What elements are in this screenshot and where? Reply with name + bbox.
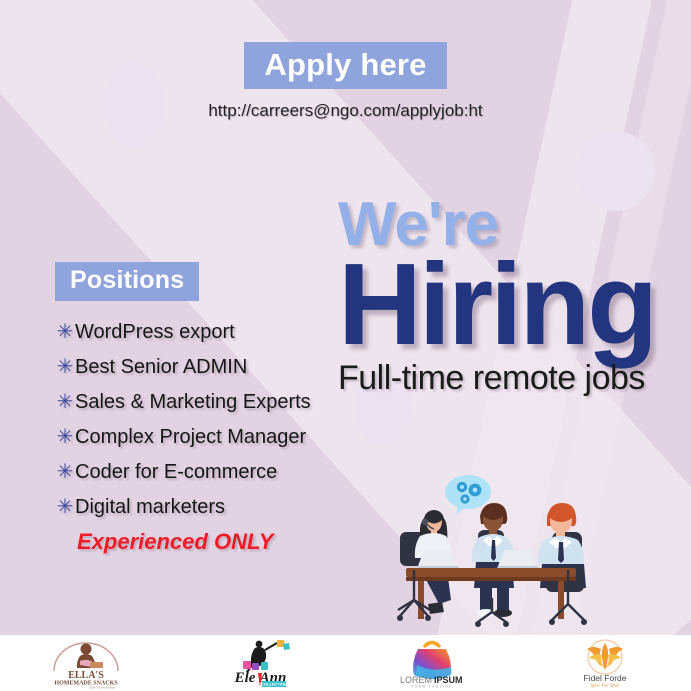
logo-tagline: Taste Of Perfection (89, 686, 116, 690)
list-item: ✳ Sales & Marketing Experts (55, 389, 355, 414)
asterisk-bullet-icon: ✳ (55, 424, 75, 449)
asterisk-bullet-icon: ✳ (55, 319, 75, 344)
logo-text-line1: Fidel Forde (583, 673, 626, 683)
positions-section: Positions ✳ WordPress export ✳ Best Seni… (55, 262, 355, 555)
position-label: Coder for E-commerce (75, 461, 277, 484)
hiring-poster: Apply here http://carreers@ngo.com/apply… (0, 0, 691, 691)
apply-here-badge[interactable]: Apply here (244, 42, 446, 89)
experienced-only-note: Experienced ONLY (77, 529, 355, 555)
apply-url[interactable]: http://carreers@ngo.com/applyjob:ht (0, 101, 691, 121)
list-item: ✳ WordPress export (55, 319, 355, 344)
logo-text-line1: LOREM (400, 675, 432, 685)
logo-text-line1: Ele (234, 670, 256, 686)
list-item: ✳ Complex Project Manager (55, 424, 355, 449)
logo-fidel-forde: Fidel Forde Ignite Your Spark (518, 635, 691, 691)
headline-subtitle: Full-time remote jobs (338, 361, 688, 395)
list-item: ✳ Best Senior ADMIN (55, 354, 355, 379)
asterisk-bullet-icon: ✳ (55, 494, 75, 519)
asterisk-bullet-icon: ✳ (55, 389, 75, 414)
asterisk-bullet-icon: ✳ (55, 459, 75, 484)
position-label: Best Senior ADMIN (75, 356, 247, 379)
logo-ele-ann: Ele Ann COLLECTION (173, 635, 346, 691)
sponsor-logo-strip: ELLA'S HOMEMADE SNACKS Taste Of Perfecti… (0, 635, 691, 691)
asterisk-bullet-icon: ✳ (55, 354, 75, 379)
logo-tagline: COLLECTION (261, 682, 287, 687)
position-label: WordPress export (75, 321, 235, 344)
list-item: ✳ Digital marketers (55, 494, 355, 519)
position-label: Sales & Marketing Experts (75, 391, 311, 414)
headline-hiring: Hiring (338, 251, 688, 359)
apply-section: Apply here http://carreers@ngo.com/apply… (0, 42, 691, 121)
logo-text-line1: ELLA'S (69, 670, 105, 681)
list-item: ✳ Coder for E-commerce (55, 459, 355, 484)
logo-lorem-ipsum: LOREM IPSUM YOUR TAGLINE (346, 635, 519, 691)
position-label: Complex Project Manager (75, 426, 306, 449)
logo-ellas-homemade-snacks: ELLA'S HOMEMADE SNACKS Taste Of Perfecti… (0, 635, 173, 691)
coworkers-illustration (392, 470, 597, 630)
headline-block: We're Hiring Full-time remote jobs (338, 196, 688, 395)
logo-tagline: Ignite Your Spark (590, 683, 619, 688)
positions-list: ✳ WordPress export ✳ Best Senior ADMIN ✳… (55, 319, 355, 519)
logo-tagline: YOUR TAGLINE (411, 685, 453, 689)
logo-text-line2: IPSUM (434, 675, 463, 685)
positions-badge: Positions (55, 262, 199, 301)
position-label: Digital marketers (75, 496, 225, 519)
